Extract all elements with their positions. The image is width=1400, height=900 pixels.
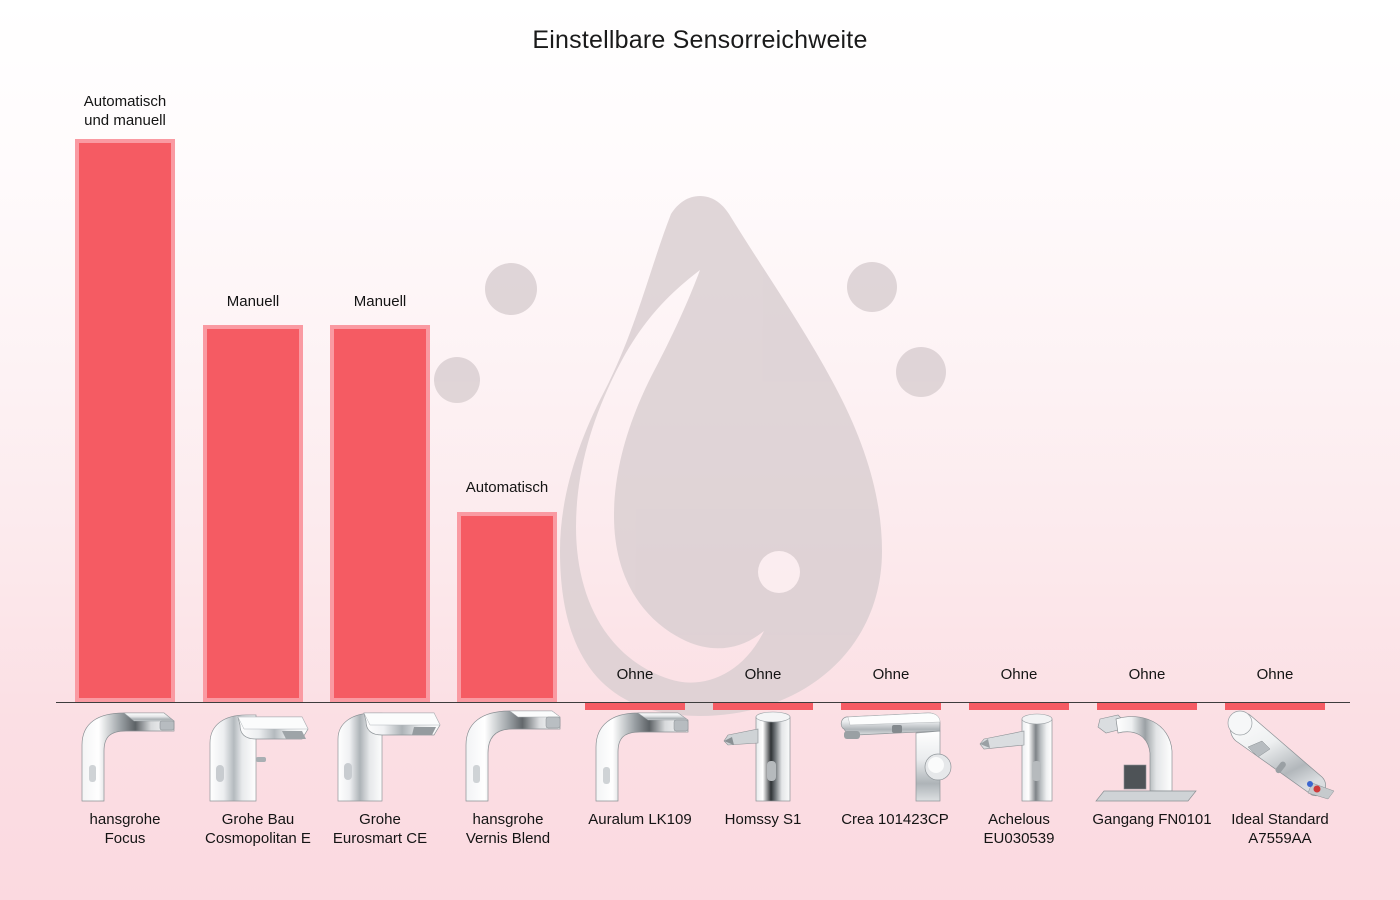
category-label: Crea 101423CP: [826, 810, 964, 829]
bar-value-label: Manuell: [203, 292, 303, 311]
category-label: Gangang FN0101: [1082, 810, 1222, 829]
bar-value-label: Ohne: [841, 665, 941, 684]
bar-value-label: Automatisch und manuell: [75, 92, 175, 130]
bar[interactable]: [75, 139, 175, 702]
category-label: Auralum LK109: [570, 810, 710, 829]
faucet-mixer-lever-icon: [836, 705, 956, 805]
faucet-cylinder-icon: [718, 705, 818, 805]
faucet-wide-spout-icon: [328, 705, 443, 805]
faucet-curved-spout-icon: [68, 705, 183, 805]
category-label: Grohe Bau Cosmopolitan E: [188, 810, 328, 848]
faucet-flat-spout-icon: [452, 705, 567, 805]
bar-value-label: Ohne: [969, 665, 1069, 684]
faucet-curved-spout-icon: [582, 705, 697, 805]
category-label: Grohe Eurosmart CE: [318, 810, 442, 848]
faucet-slim-cylinder-icon: [978, 705, 1068, 805]
bar-value-label: Ohne: [713, 665, 813, 684]
faucet-deck-plate-icon: [1092, 705, 1212, 805]
bar[interactable]: [203, 325, 303, 702]
bar[interactable]: [330, 325, 430, 702]
category-label: Achelous EU030539: [958, 810, 1080, 848]
category-label: Ideal Standard A7559AA: [1210, 810, 1350, 848]
bar[interactable]: [457, 512, 557, 702]
bar-value-label: Ohne: [585, 665, 685, 684]
faucet-angular-spout-icon: [198, 705, 313, 805]
faucet-wall-mount-icon: [1218, 705, 1338, 805]
bar-value-label: Ohne: [1225, 665, 1325, 684]
chart-canvas: Einstellbare Sensorreichweite Automatisc…: [0, 0, 1400, 900]
bar-value-label: Ohne: [1097, 665, 1197, 684]
bar-value-label: Manuell: [330, 292, 430, 311]
category-label: hansgrohe Vernis Blend: [446, 810, 570, 848]
category-label: Homssy S1: [703, 810, 823, 829]
bar-value-label: Automatisch: [457, 478, 557, 497]
category-label: hansgrohe Focus: [65, 810, 185, 848]
